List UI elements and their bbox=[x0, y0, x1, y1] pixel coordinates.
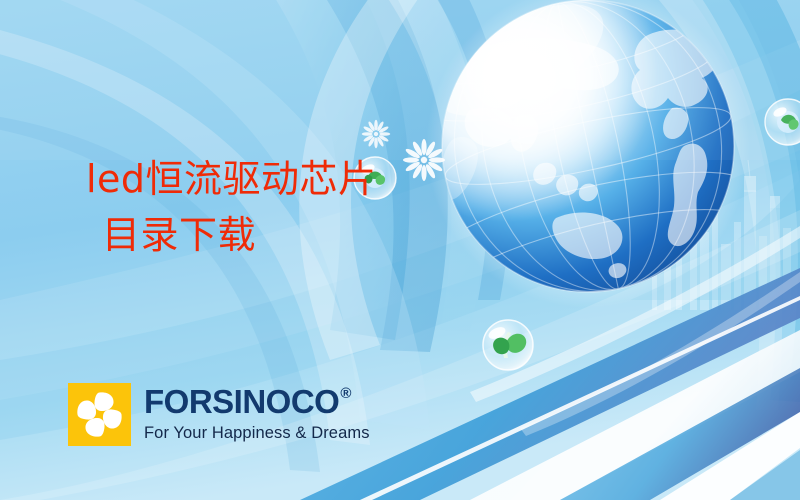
headline-line-2: 目录下载 bbox=[86, 216, 377, 254]
brand-logo[interactable]: FORSINOCO® For Your Happiness & Dreams bbox=[68, 383, 370, 446]
headline-line-1: led恒流驱动芯片 bbox=[86, 160, 377, 198]
logo-company-name: FORSINOCO® bbox=[144, 385, 370, 418]
banner-canvas: led恒流驱动芯片 目录下载 FORSINOCO® bbox=[0, 0, 800, 500]
headline-block: led恒流驱动芯片 目录下载 bbox=[86, 160, 377, 254]
logo-company-name-text: FORSINOCO bbox=[144, 385, 339, 418]
logo-tagline: For Your Happiness & Dreams bbox=[144, 425, 370, 442]
logo-wordmark: FORSINOCO® For Your Happiness & Dreams bbox=[144, 383, 370, 442]
bubble-leaf-icon bbox=[483, 320, 533, 370]
registered-trademark-icon: ® bbox=[340, 386, 351, 401]
four-petal-pinwheel-icon bbox=[68, 383, 131, 446]
